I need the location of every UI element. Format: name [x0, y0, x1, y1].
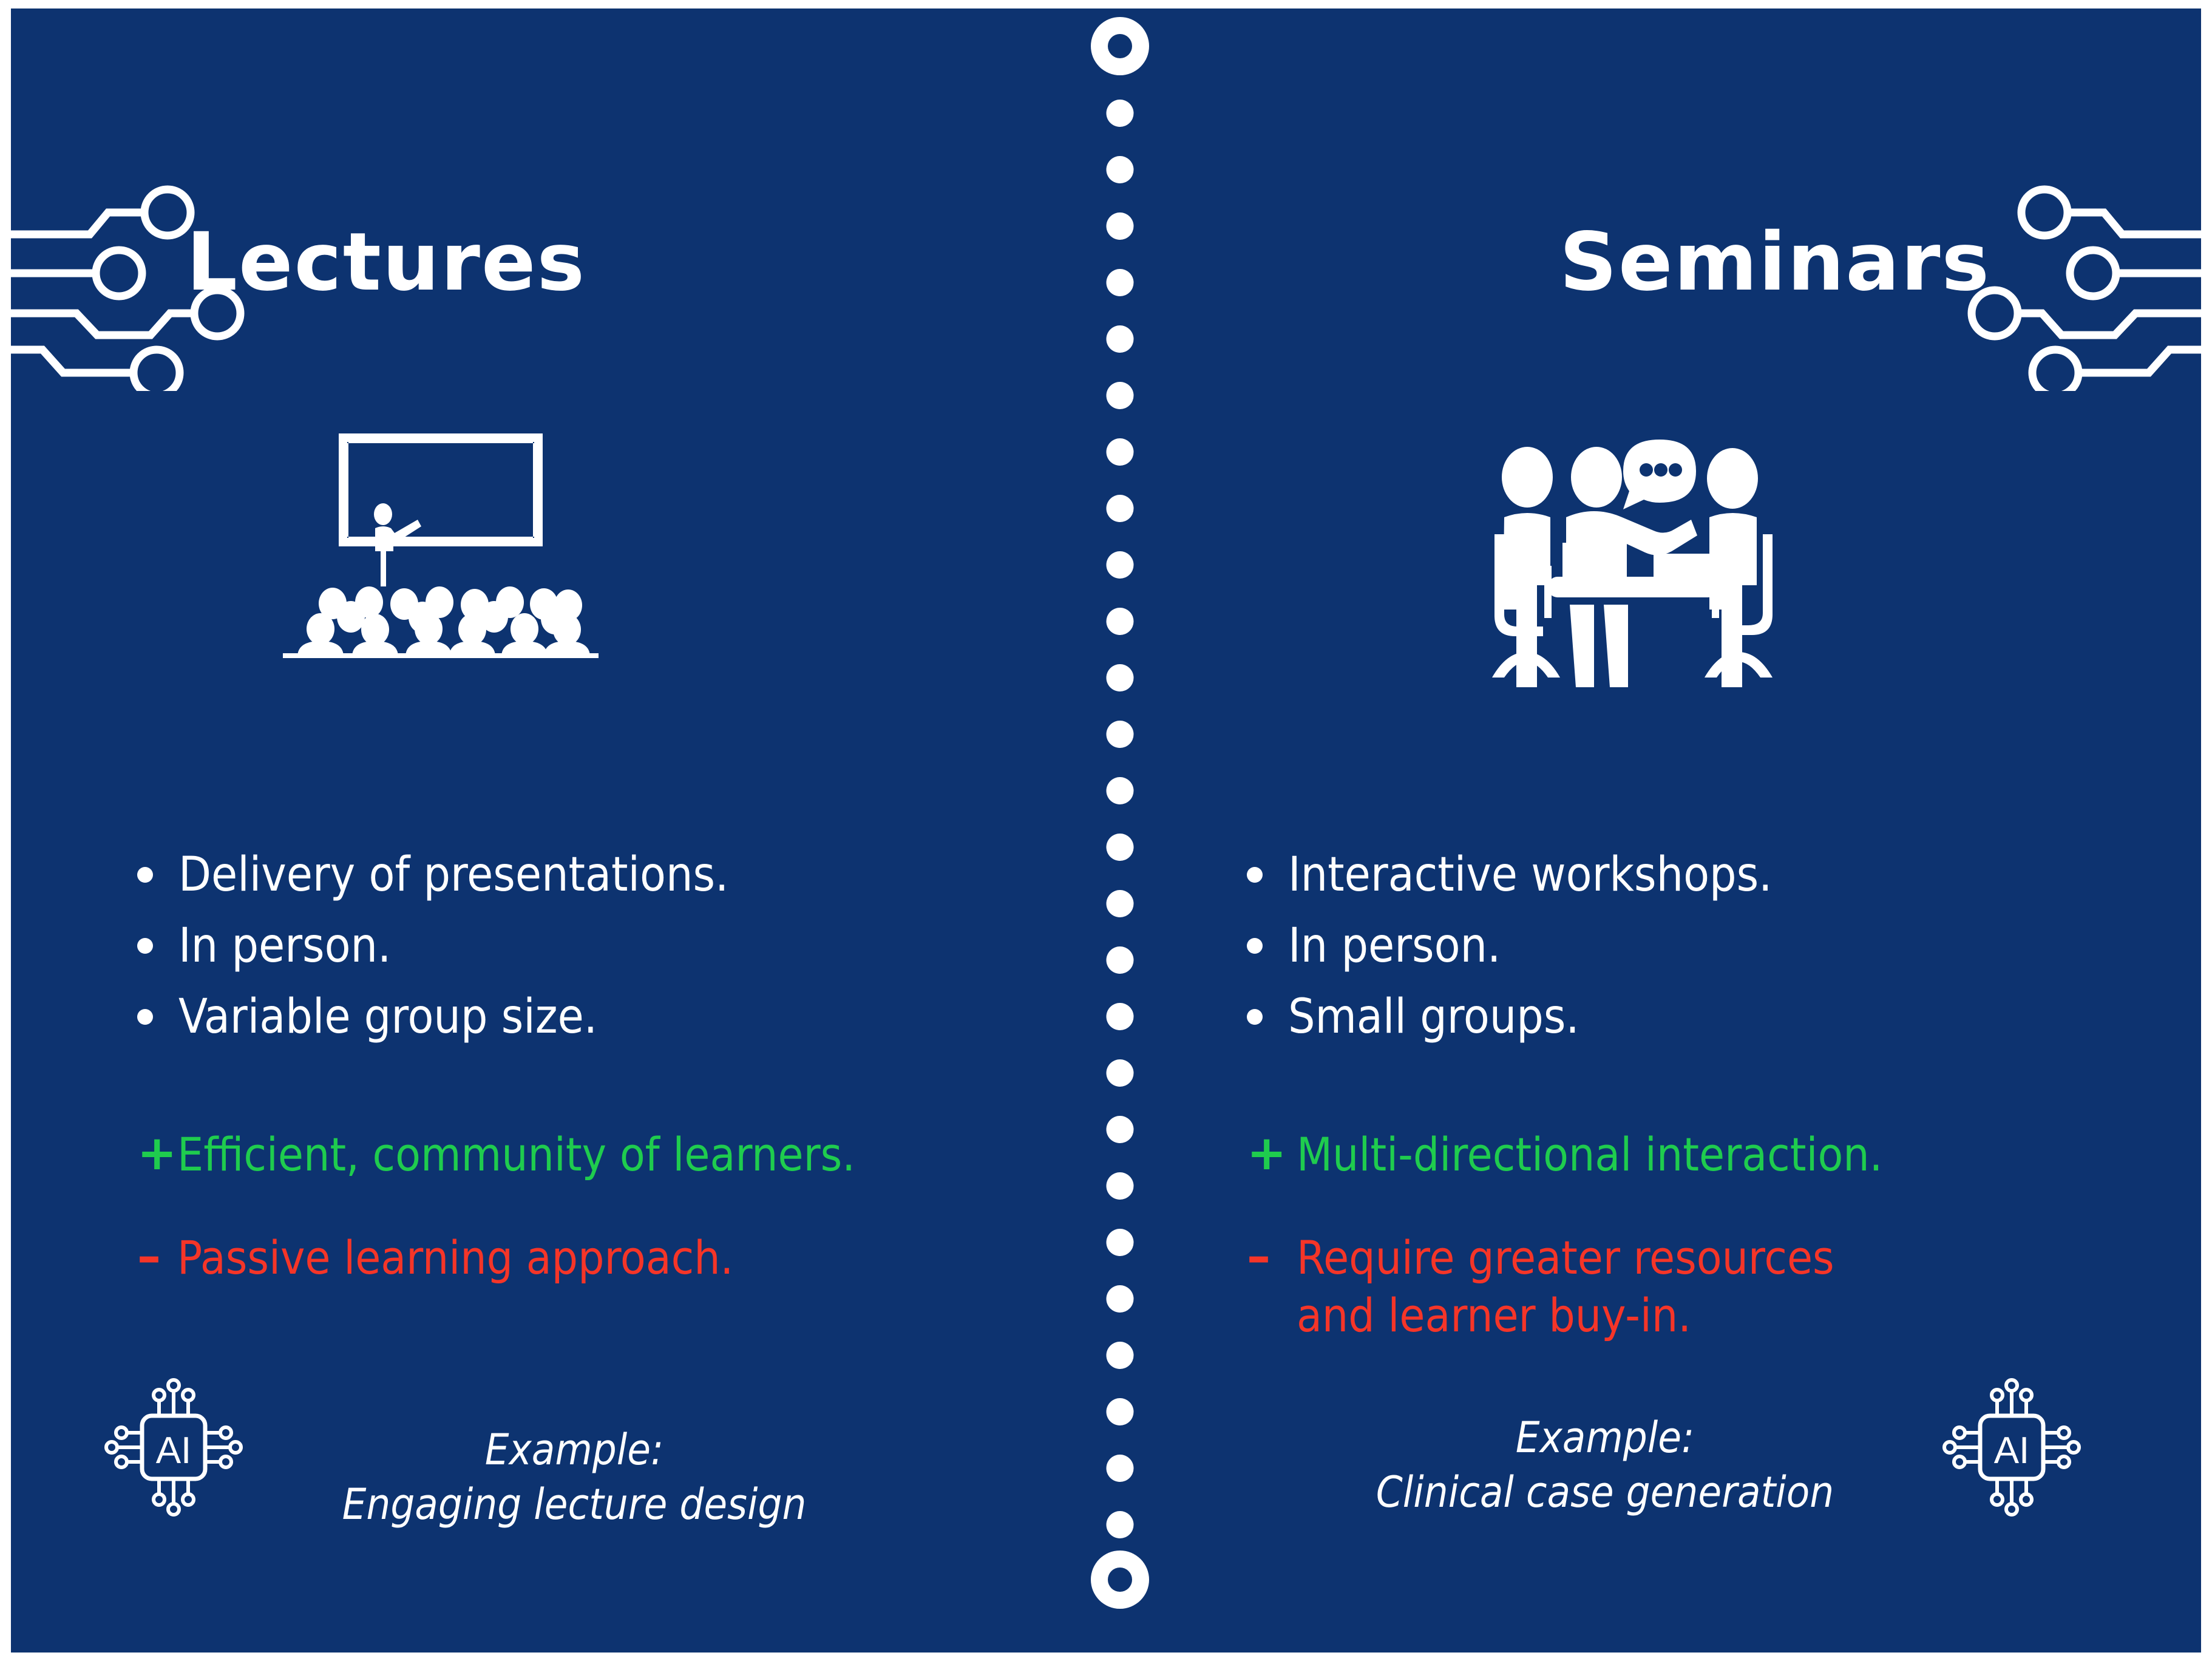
divider-dot	[1107, 1455, 1134, 1482]
ai-chip-icon-left: AI	[101, 1374, 246, 1523]
divider-dot	[1107, 1511, 1134, 1538]
ai-chip-label: AI	[1994, 1430, 2030, 1472]
divider-dot	[1107, 382, 1134, 409]
bullet-dot-icon	[1247, 867, 1263, 883]
divider-dot	[1107, 212, 1134, 240]
con-block-seminars: – Require greater resources and learner …	[1247, 1229, 2182, 1344]
plus-icon: +	[1247, 1126, 1283, 1183]
plus-icon: +	[137, 1126, 177, 1183]
list-item: Delivery of presentations.	[137, 846, 1048, 904]
bullet-dot-icon	[137, 938, 153, 954]
divider-dot	[1107, 608, 1134, 635]
infographic-panel: Lectures	[11, 8, 2201, 1653]
list-item: Small groups.	[1247, 988, 2157, 1046]
divider-dot	[1107, 1003, 1134, 1030]
divider-dot	[1107, 495, 1134, 522]
ring-icon-top	[1091, 17, 1149, 75]
divider-dot	[1107, 551, 1134, 579]
divider-dot	[1107, 721, 1134, 748]
list-item: Variable group size.	[137, 988, 1048, 1046]
divider-dot	[1107, 890, 1134, 917]
bullet-list-seminars: Interactive workshops. In person. Small …	[1247, 846, 2157, 1059]
example-block-lectures: Example: Engaging lecture design	[283, 1423, 866, 1532]
example-block-seminars: Example: Clinical case generation	[1283, 1411, 1927, 1520]
bullet-dot-icon	[1247, 1009, 1263, 1025]
example-label: Example:	[283, 1423, 866, 1478]
divider-dot	[1107, 1342, 1134, 1369]
list-item: In person.	[137, 917, 1048, 975]
divider-dot	[1107, 1172, 1134, 1200]
minus-icon: –	[1247, 1229, 1283, 1286]
bullet-dot-icon	[137, 867, 153, 883]
divider-dot	[1107, 1285, 1134, 1313]
example-label: Example:	[1283, 1411, 1927, 1466]
minus-icon: –	[137, 1229, 177, 1286]
example-text: Clinical case generation	[1283, 1466, 1927, 1520]
ring-icon-bottom	[1091, 1551, 1149, 1609]
divider-dot	[1107, 438, 1134, 466]
bullet-list-lectures: Delivery of presentations. In person. Va…	[137, 846, 1048, 1059]
pro-block-seminars: + Multi-directional interaction.	[1247, 1126, 2182, 1183]
con-text: Passive learning approach.	[177, 1229, 733, 1286]
divider-dot	[1107, 269, 1134, 296]
divider-dot	[1107, 1059, 1134, 1087]
divider-dot	[1107, 664, 1134, 691]
divider-dot	[1107, 834, 1134, 861]
con-block-lectures: – Passive learning approach.	[137, 1229, 1072, 1286]
divider	[1074, 8, 1165, 1678]
ai-chip-label: AI	[156, 1430, 192, 1472]
divider-dot	[1107, 777, 1134, 804]
pro-text: Multi-directional interaction.	[1283, 1126, 1882, 1183]
lecture-hall-icon	[283, 427, 599, 661]
divider-dot	[1107, 1116, 1134, 1143]
bullet-dot-icon	[137, 1009, 153, 1025]
divider-dot	[1107, 156, 1134, 183]
column-seminars: Seminars	[1156, 8, 2212, 1653]
divider-dot	[1107, 1229, 1134, 1256]
bullet-dot-icon	[1247, 938, 1263, 954]
seminar-group-icon	[1477, 427, 1781, 697]
pro-text: Efficient, community of learners.	[177, 1126, 855, 1183]
divider-dot	[1107, 100, 1134, 127]
example-text: Engaging lecture design	[283, 1478, 866, 1532]
list-item: Interactive workshops.	[1247, 846, 2157, 904]
divider-dot	[1107, 946, 1134, 974]
divider-dot	[1107, 1398, 1134, 1425]
page-title-seminars: Seminars	[1156, 222, 2212, 302]
ai-chip-icon-right: AI	[1939, 1374, 2085, 1523]
pro-block-lectures: + Efficient, community of learners.	[137, 1126, 1072, 1183]
divider-dot	[1107, 325, 1134, 353]
list-item: In person.	[1247, 917, 2157, 975]
column-lectures: Lectures	[22, 8, 1078, 1653]
con-text: Require greater resources and learner bu…	[1283, 1229, 1834, 1344]
page-title-lectures: Lectures	[22, 222, 1078, 302]
